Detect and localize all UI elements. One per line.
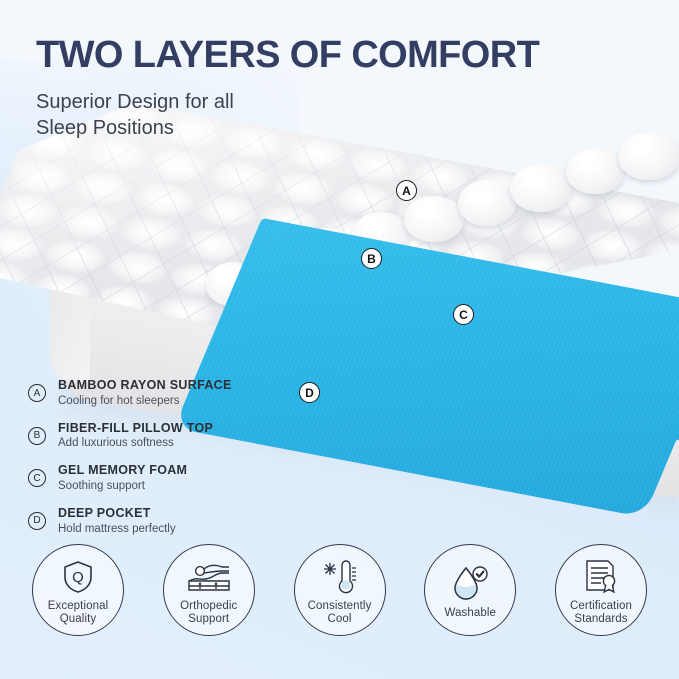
feature-certification-standards[interactable]: Certification Standards bbox=[549, 544, 653, 669]
feature-label-line2: Standards bbox=[570, 613, 632, 626]
legend-badge-b: B bbox=[28, 427, 46, 445]
feature-label-line1: Washable bbox=[444, 607, 496, 620]
legend-title-b: FIBER-FILL PILLOW TOP bbox=[58, 421, 213, 437]
feature-exceptional-quality[interactable]: Q Exceptional Quality bbox=[26, 544, 130, 669]
feature-label-line1: Orthopedic bbox=[180, 600, 237, 613]
feature-label: Consistently Cool bbox=[308, 600, 372, 626]
legend-sub-b: Add luxurious softness bbox=[58, 437, 213, 449]
water-droplet-check-icon bbox=[450, 565, 490, 603]
feature-washable[interactable]: Washable bbox=[418, 544, 522, 669]
feature-label-line2: Quality bbox=[48, 613, 109, 626]
feature-circle: Washable bbox=[424, 544, 516, 636]
feature-badge-row: Q Exceptional Quality bbox=[0, 544, 679, 669]
legend-badge-c: C bbox=[28, 469, 46, 487]
legend-list: A BAMBOO RAYON SURFACE Cooling for hot s… bbox=[28, 378, 308, 549]
legend-sub-a: Cooling for hot sleepers bbox=[58, 395, 232, 407]
legend-item-d: D DEEP POCKET Hold mattress perfectly bbox=[28, 506, 308, 535]
legend-title-c: GEL MEMORY FOAM bbox=[58, 463, 187, 479]
feature-label: Certification Standards bbox=[570, 600, 632, 626]
feature-label-line2: Support bbox=[180, 613, 237, 626]
legend-sub-d: Hold mattress perfectly bbox=[58, 523, 176, 535]
subtitle-line-2: Sleep Positions bbox=[36, 115, 539, 141]
legend-title-d: DEEP POCKET bbox=[58, 506, 176, 522]
feature-circle: Q Exceptional Quality bbox=[32, 544, 124, 636]
diagram-marker-c[interactable]: C bbox=[453, 304, 474, 325]
subtitle-line-1: Superior Design for all bbox=[36, 89, 539, 115]
feature-label: Exceptional Quality bbox=[48, 600, 109, 626]
page-title: TWO LAYERS OF COMFORT bbox=[36, 36, 539, 76]
feature-label: Washable bbox=[444, 607, 496, 620]
legend-badge-d: D bbox=[28, 512, 46, 530]
feature-consistently-cool[interactable]: Consistently Cool bbox=[288, 544, 392, 669]
legend-title-a: BAMBOO RAYON SURFACE bbox=[58, 378, 232, 394]
legend-item-a: A BAMBOO RAYON SURFACE Cooling for hot s… bbox=[28, 378, 308, 407]
thermometer-snowflake-icon bbox=[318, 558, 362, 596]
legend-sub-c: Soothing support bbox=[58, 480, 187, 492]
feature-circle: Consistently Cool bbox=[294, 544, 386, 636]
diagram-marker-b[interactable]: B bbox=[361, 248, 382, 269]
gel-memory-foam-layer bbox=[0, 96, 679, 426]
product-infographic: TWO LAYERS OF COMFORT Superior Design fo… bbox=[0, 0, 679, 679]
diagram-marker-a[interactable]: A bbox=[396, 180, 417, 201]
certificate-seal-icon bbox=[581, 558, 621, 596]
legend-item-c: C GEL MEMORY FOAM Soothing support bbox=[28, 463, 308, 492]
feature-orthopedic-support[interactable]: Orthopedic Support bbox=[157, 544, 261, 669]
feature-label-line1: Certification bbox=[570, 600, 632, 613]
shield-quality-icon: Q bbox=[60, 558, 96, 596]
feature-circle: Orthopedic Support bbox=[163, 544, 255, 636]
legend-item-b: B FIBER-FILL PILLOW TOP Add luxurious so… bbox=[28, 421, 308, 450]
feature-circle: Certification Standards bbox=[555, 544, 647, 636]
feature-label-line2: Cool bbox=[308, 613, 372, 626]
feature-label: Orthopedic Support bbox=[180, 600, 237, 626]
feature-label-line1: Exceptional bbox=[48, 600, 109, 613]
svg-text:Q: Q bbox=[72, 569, 84, 586]
page-subtitle: Superior Design for all Sleep Positions bbox=[36, 89, 539, 142]
feature-label-line1: Consistently bbox=[308, 600, 372, 613]
header: TWO LAYERS OF COMFORT Superior Design fo… bbox=[36, 36, 539, 142]
orthopedic-support-icon bbox=[186, 558, 232, 596]
legend-badge-a: A bbox=[28, 384, 46, 402]
